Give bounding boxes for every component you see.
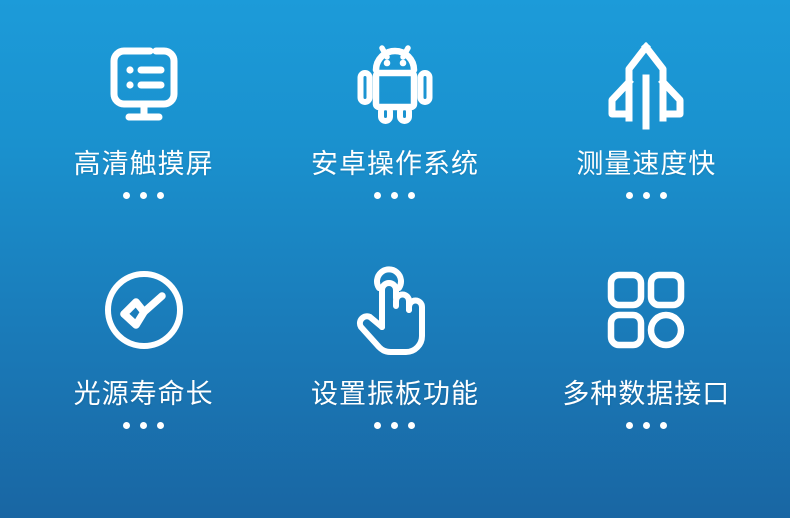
dot: [374, 422, 381, 429]
feature-dots: [374, 192, 415, 199]
dot: [626, 422, 633, 429]
feature-card-multiple-data-interfaces[interactable]: 多种数据接口: [521, 244, 772, 474]
dot: [643, 192, 650, 199]
feature-dots: [626, 192, 667, 199]
feature-dots: [626, 422, 667, 429]
feature-label: 光源寿命长: [74, 380, 214, 410]
dot: [123, 422, 130, 429]
dot: [643, 422, 650, 429]
feature-dots: [123, 422, 164, 429]
monitor-list-icon: [96, 36, 192, 132]
hand-tap-icon: [347, 262, 443, 358]
feature-label: 测量速度快: [576, 150, 716, 180]
feature-card-android-os[interactable]: 安卓操作系统: [269, 14, 520, 244]
feature-card-fast-measurement[interactable]: 测量速度快: [521, 14, 772, 244]
grid-apps-icon: [598, 262, 694, 358]
feature-label: 多种数据接口: [562, 380, 730, 410]
feature-label: 安卓操作系统: [311, 150, 479, 180]
dot: [660, 192, 667, 199]
dot: [626, 192, 633, 199]
dot: [391, 422, 398, 429]
feature-dots: [123, 192, 164, 199]
feature-label: 设置振板功能: [311, 380, 479, 410]
dot: [123, 192, 130, 199]
dot: [140, 192, 147, 199]
dot: [660, 422, 667, 429]
dot: [408, 192, 415, 199]
feature-grid: 高清触摸屏 安卓操作系统: [0, 0, 790, 518]
dot: [408, 422, 415, 429]
dot: [157, 422, 164, 429]
dot: [157, 192, 164, 199]
feature-label: 高清触摸屏: [74, 150, 214, 180]
dot: [140, 422, 147, 429]
rocket-icon: [598, 36, 694, 132]
dot: [391, 192, 398, 199]
circle-waveform-icon: [96, 262, 192, 358]
dot: [374, 192, 381, 199]
feature-card-vibration-plate-setting[interactable]: 设置振板功能: [269, 244, 520, 474]
feature-card-long-lamp-life[interactable]: 光源寿命长: [18, 244, 269, 474]
feature-dots: [374, 422, 415, 429]
feature-card-hd-touchscreen[interactable]: 高清触摸屏: [18, 14, 269, 244]
android-robot-icon: [347, 36, 443, 132]
